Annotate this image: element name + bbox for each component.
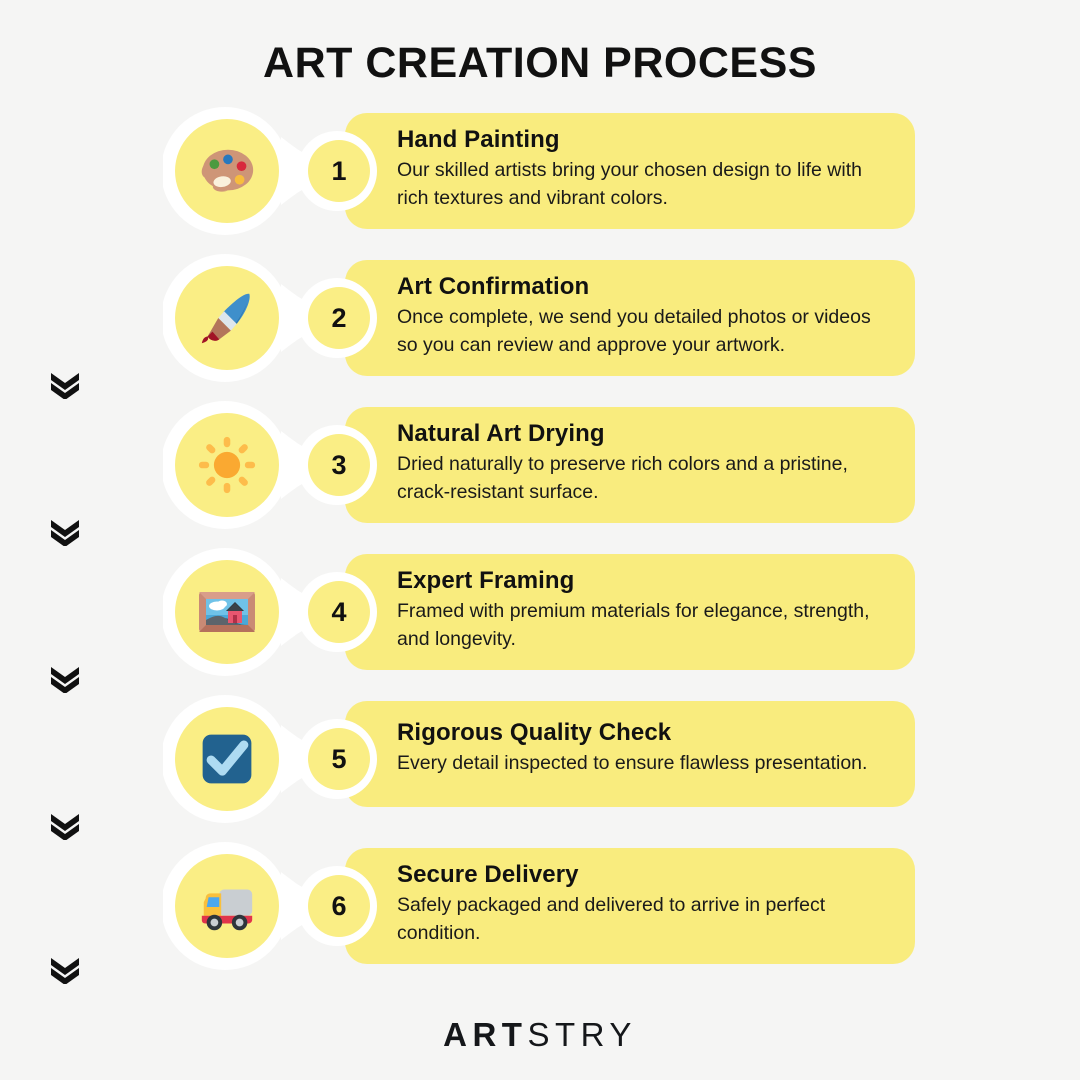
step-description: Framed with premium materials for elegan… [397,598,889,653]
page-title: ART CREATION PROCESS [0,0,1080,85]
step-row: Hand Painting Our skilled artists bring … [165,113,1080,229]
step-number-badge: 2 [308,287,370,349]
step-number-badge: 4 [308,581,370,643]
infographic-page: { "header": { "title": "ART CREATION PRO… [0,0,1080,1080]
steps-list: Hand Painting Our skilled artists bring … [0,113,1080,964]
step-icon-circle [175,854,279,958]
checkmark-box-icon [197,729,257,789]
step-card[interactable]: Hand Painting Our skilled artists bring … [345,113,915,229]
step-number-badge: 3 [308,434,370,496]
delivery-truck-icon [196,875,258,937]
step-description: Safely packaged and delivered to arrive … [397,892,889,947]
step-title: Secure Delivery [397,860,889,890]
step-card[interactable]: Natural Art Drying Dried naturally to pr… [345,407,915,523]
step-description: Dried naturally to preserve rich colors … [397,451,889,506]
step-title: Rigorous Quality Check [397,718,889,748]
step-card[interactable]: Art Confirmation Once complete, we send … [345,260,915,376]
step-title: Art Confirmation [397,272,889,302]
step-icon-circle [175,119,279,223]
step-number-badge: 6 [308,875,370,937]
step-number-badge: 5 [308,728,370,790]
step-icon-circle [175,707,279,811]
logo-bold-text: ART [443,1016,527,1053]
double-chevron-down-icon [48,810,82,840]
framed-picture-icon [195,580,259,644]
paintbrush-icon [196,287,258,349]
step-card[interactable]: Expert Framing Framed with premium mater… [345,554,915,670]
double-chevron-down-icon [48,369,82,399]
step-title: Hand Painting [397,125,889,155]
step-row: Expert Framing Framed with premium mater… [165,554,1080,670]
step-icon-circle [175,560,279,664]
step-number-badge: 1 [308,140,370,202]
step-icon-circle [175,413,279,517]
step-description: Every detail inspected to ensure flawles… [397,750,889,778]
step-title: Natural Art Drying [397,419,889,449]
footer-logo: ARTSTRY [0,1016,1080,1054]
logo-light-text: STRY [527,1016,636,1053]
step-row: Natural Art Drying Dried naturally to pr… [165,407,1080,523]
step-title: Expert Framing [397,566,889,596]
step-row: Rigorous Quality Check Every detail insp… [165,701,1080,817]
step-description: Our skilled artists bring your chosen de… [397,157,889,212]
double-chevron-down-icon [48,663,82,693]
step-card[interactable]: Secure Delivery Safely packaged and deli… [345,848,915,964]
palette-icon [196,140,258,202]
step-row: Secure Delivery Safely packaged and deli… [165,848,1080,964]
step-icon-circle [175,266,279,370]
step-card[interactable]: Rigorous Quality Check Every detail insp… [345,701,915,807]
sun-icon [197,435,257,495]
double-chevron-down-icon [48,954,82,984]
double-chevron-down-icon [48,516,82,546]
step-description: Once complete, we send you detailed phot… [397,304,889,359]
step-row: Art Confirmation Once complete, we send … [165,260,1080,376]
